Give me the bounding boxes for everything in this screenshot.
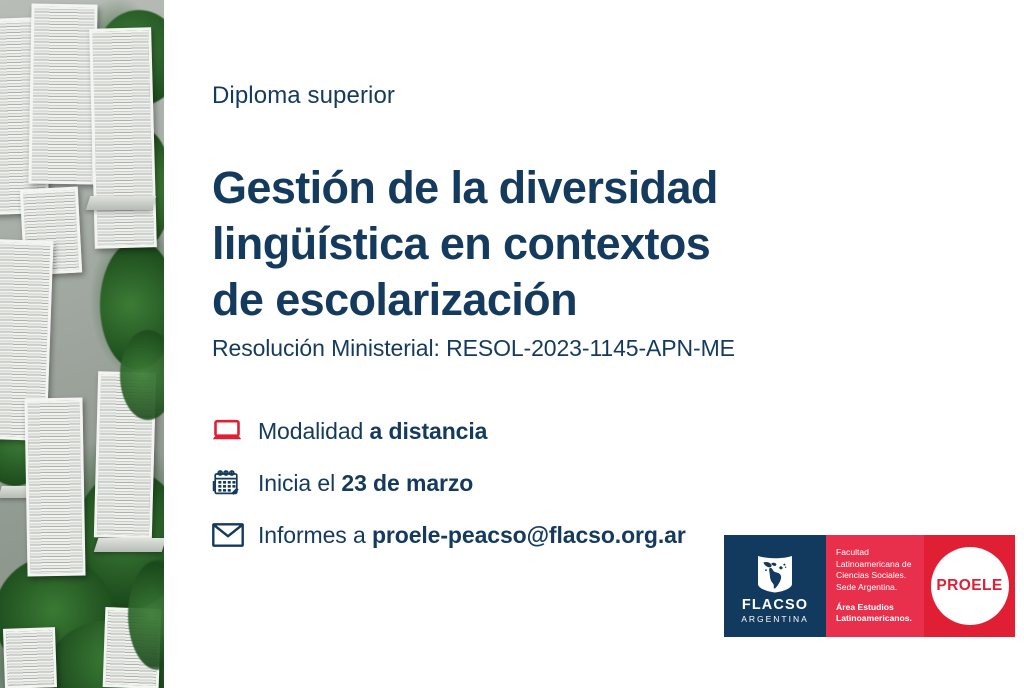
shutter-panel [24,398,85,577]
title-line-2: lingüística en contextos [212,216,812,272]
flacso-logo-panel: FLACSO ARGENTINA [724,535,826,637]
shutter-panel [3,627,57,688]
program-type-label: Diploma superior [212,82,395,110]
faculty-line-3: Ciencias Sociales. [836,570,924,581]
detail-value-contact-email: proele-peacso@flacso.org.ar [372,522,686,548]
poster-canvas: Diploma superior Gestión de la diversida… [0,0,1024,688]
proele-logo-panel: PROELE [924,535,1015,637]
title-line-1: Gestión de la diversidad [212,160,812,216]
facade-photo [0,0,164,688]
detail-label-contact: Informes a [258,522,372,548]
envelope-icon [212,523,258,547]
detail-row-start-date: Inicia el 23 de marzo [212,457,852,509]
detail-text-start-date: Inicia el 23 de marzo [258,470,473,497]
page-title: Gestión de la diversidad lingüística en … [212,160,812,327]
calendar-icon [212,469,258,497]
faculty-line-1: Facultad [836,547,924,558]
faculty-line-4: Sede Argentina. [836,582,924,593]
shutter-panel [89,27,157,249]
flacso-wordmark: FLACSO [742,598,808,613]
faculty-description-panel: Facultad Latinoamericana de Ciencias Soc… [826,535,924,637]
area-line-2: Latinoamericanos. [836,613,924,624]
area-line-1: Área Estudios [836,602,924,613]
window-ledge [86,196,157,210]
detail-label-modality: Modalidad [258,418,370,444]
proele-wordmark: PROELE [936,577,1002,595]
laptop-icon [212,419,258,443]
detail-value-modality: a distancia [370,418,488,444]
detail-row-modality: Modalidad a distancia [212,405,852,457]
logo-lockup: FLACSO ARGENTINA Facultad Latinoamerican… [724,535,1015,637]
detail-text-modality: Modalidad a distancia [258,418,487,445]
detail-value-start-date: 23 de marzo [341,470,473,496]
detail-label-start-date: Inicia el [258,470,341,496]
flacso-country-label: ARGENTINA [741,615,809,624]
shutter-panel [28,3,97,184]
latin-america-map-icon [754,553,796,593]
window-ledge [94,538,164,552]
ministerial-resolution: Resolución Ministerial: RESOL-2023-1145-… [212,335,735,362]
proele-circle: PROELE [931,547,1009,625]
title-line-3: de escolarización [212,272,812,328]
faculty-line-2: Latinoamericana de [836,559,924,570]
detail-text-contact: Informes a proele-peacso@flacso.org.ar [258,522,686,549]
